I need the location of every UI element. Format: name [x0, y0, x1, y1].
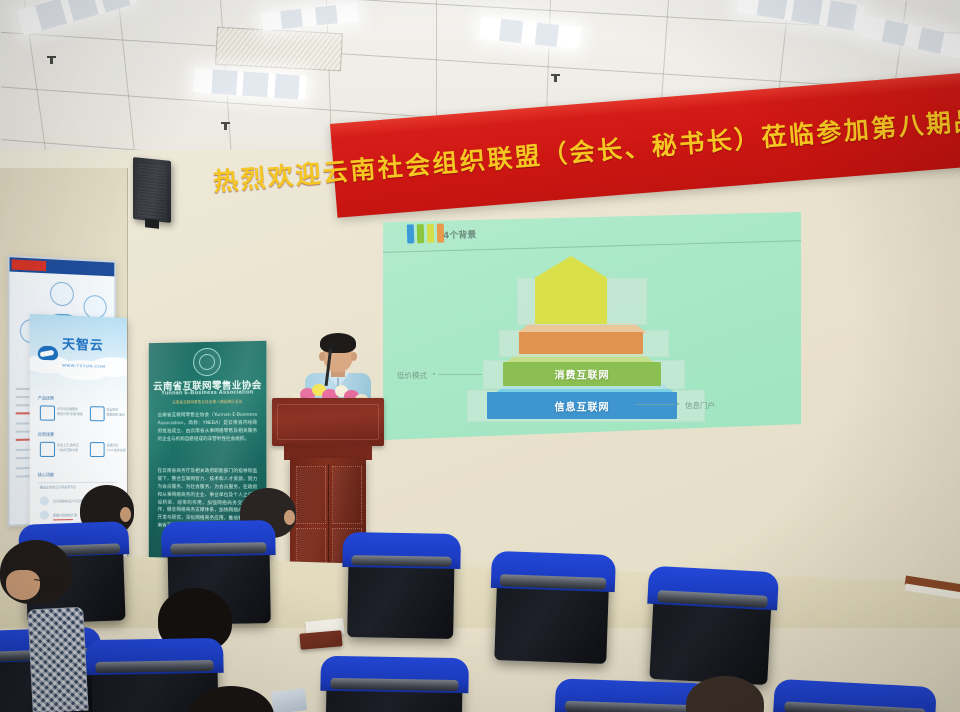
seat-row1-5: [776, 686, 931, 712]
speaker-grille: [137, 161, 167, 218]
podium-panel-left: [296, 466, 326, 524]
audience-head-mid-left: [0, 540, 72, 604]
ceiling-air-vent: [215, 27, 343, 72]
conference-hall-photo: 热烈欢迎云南社会组织联盟（会长、秘书长）莅临参加第八期品牌日活动 4个背景 信息…: [0, 0, 960, 712]
annotation-right-dot: [677, 403, 679, 405]
pyramid-annotation-left: 低价模式: [397, 370, 427, 381]
sprinkler-head-1: [50, 56, 53, 64]
podium-panel-right: [332, 466, 362, 524]
ceiling-light-2: [193, 68, 306, 100]
pyramid-level-1-arrow: [535, 256, 607, 324]
tianzhiyun-logo: 天智云 WWW.TZYUN.COM: [38, 334, 106, 372]
pyramid-level-3: 消费互联网: [503, 362, 661, 386]
ceiling-light-3: [261, 3, 358, 31]
rollup-feature-icon-3: [40, 442, 55, 457]
projection-screen: 4个背景 信息互联网 消费互联网: [383, 212, 801, 440]
poster-logo-badge: [12, 259, 46, 271]
pyramid-level-4-label: 信息互联网: [487, 398, 677, 413]
ceiling-light-4: [479, 17, 581, 49]
wall-speaker-icon: [133, 157, 171, 223]
audience-laptop: [271, 688, 307, 712]
slide: 4个背景 信息互联网 消费互联网: [383, 212, 801, 440]
pyramid-diagram: 信息互联网 消费互联网 低价模式 信息门户: [383, 212, 801, 440]
seat-row2-5: [649, 573, 772, 685]
pyramid-level-3-label: 消费互联网: [503, 367, 661, 382]
rollup-bullet-1: [40, 496, 49, 505]
rollup-feature-icon-1: [40, 405, 55, 420]
seat-row1-4: [558, 686, 703, 712]
sprinkler-head-2: [224, 122, 227, 130]
pyramid-level-2: [519, 332, 643, 354]
rollup-section-3: 核心功能: [38, 472, 54, 478]
presenter-ear-right: [351, 352, 357, 361]
audience-patterned-shirt: [27, 607, 88, 712]
sprinkler-head-3: [554, 74, 557, 82]
ceiling-light-6: [861, 15, 960, 58]
audience-glasses-icon: [42, 577, 62, 589]
tianzhiyun-url: WWW.TZYUN.COM: [62, 363, 105, 369]
pyramid-annotation-right: 信息门户: [685, 400, 715, 411]
rollup-section-1: 产品优势: [38, 395, 54, 401]
seat-row2-4: [494, 558, 609, 664]
rollup-bullet-2: [40, 510, 49, 519]
rollup-feature-icon-4: [90, 442, 105, 457]
annotation-right-line: [635, 404, 675, 405]
audience-head-front-right: [686, 676, 764, 712]
speaker-bracket: [145, 218, 159, 228]
annotation-left-dot: [433, 373, 435, 375]
cloud-icon: [38, 346, 58, 361]
tianzhiyun-brand-name: 天智云: [62, 337, 104, 353]
seat-row1-3: [325, 663, 463, 712]
rollup-section-2: 应用场景: [38, 432, 54, 438]
audience-head-front-center: [188, 686, 274, 712]
pyramid-level-4: 信息互联网: [487, 392, 677, 419]
presenter-ear-left: [319, 352, 325, 361]
ceiling-light-5: [737, 0, 866, 32]
annotation-left-line: [438, 374, 482, 375]
podium-top: [272, 398, 384, 446]
seat-row2-3: [347, 539, 455, 639]
presenter-hair: [320, 333, 356, 353]
rollup-feature-icon-2: [90, 406, 105, 421]
